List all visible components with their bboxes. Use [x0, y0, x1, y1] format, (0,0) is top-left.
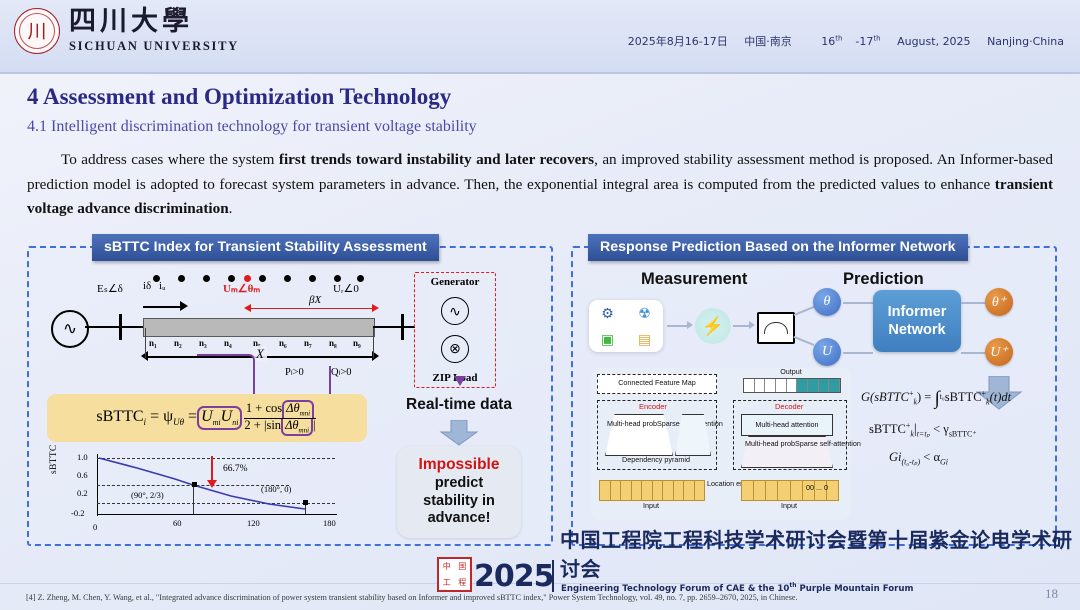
- impossible-callout: Impossible predict stability in advance!: [397, 446, 521, 538]
- node-label-n3: n₃: [199, 338, 207, 348]
- meter-dial: [764, 322, 788, 334]
- beta-x-arrow: [249, 308, 374, 309]
- seal-glyph: 川: [27, 22, 46, 41]
- source-generator-icon: ∿: [51, 310, 89, 348]
- slide: 川 四川大學 SICHUAN UNIVERSITY 2025年8月16-17日 …: [0, 0, 1080, 610]
- decoder-attention-block: Multi-head attention: [741, 414, 833, 436]
- connector-meter-theta: [794, 306, 815, 316]
- measurement-heading: Measurement: [641, 270, 747, 289]
- node-n7: [309, 275, 316, 282]
- source-voltage-label: Eₛ∠δ: [97, 282, 123, 295]
- decoder-input-label: Input: [741, 502, 837, 510]
- forum-seal-icon: 中国 工程: [437, 557, 472, 592]
- beta-x-arrow-head-left: [244, 304, 251, 312]
- informer-line-2: Network: [888, 321, 945, 339]
- impossible-line-4: advance!: [428, 510, 491, 528]
- current-arrow-head: [180, 301, 188, 311]
- body-part-3: .: [229, 200, 233, 217]
- u-predicted-circle: U⁺: [985, 338, 1013, 366]
- formula-u-product-box: UmiUni: [197, 406, 242, 429]
- connector-arrow-2: [749, 321, 755, 329]
- right-panel: Response Prediction Based on the Informe…: [571, 246, 1057, 546]
- impossible-line-3: stability in: [423, 493, 495, 511]
- chart-annotation-180: (180°, 0): [261, 484, 291, 494]
- header-date-cn: 2025年8月16-17日: [628, 35, 728, 48]
- receiving-voltage-label: Uᵣ∠0: [333, 282, 359, 295]
- node-n9: [357, 275, 364, 282]
- header-date-en: 16th-17th August, 2025: [808, 35, 970, 48]
- chart-y-axis-label: sBTTC: [49, 445, 59, 474]
- informer-architecture-diagram: Connected Feature Map Encoder Multi-head…: [591, 368, 851, 520]
- impossible-line-2: predict: [435, 475, 483, 493]
- realtime-data-label: Real-time data: [384, 396, 534, 414]
- sbttc-chart: sBTTC 66.7% (90°, 2/3) (180°, 0) 1: [51, 448, 361, 534]
- chart-ytick-4: -0.2: [71, 508, 84, 518]
- slide-footer: 中国 工程 2025 中国工程院工程科技学术研讨会暨第十届紫金论电学术研讨会 E…: [0, 552, 1080, 610]
- body-part-1: To address cases where the system: [61, 151, 279, 168]
- impossible-line-1: Impossible: [419, 456, 500, 475]
- node-n1: [153, 275, 160, 282]
- realtime-down-arrow-icon: [439, 420, 479, 446]
- wind-turbine-icon: ⚙: [601, 306, 614, 320]
- node-n6: [284, 275, 291, 282]
- dependency-pyramid-label: Dependency pyramid: [603, 456, 709, 464]
- transformer-icon: ⚡: [695, 308, 731, 344]
- connector-sources-transformer: [667, 325, 689, 327]
- slide-header: 川 四川大學 SICHUAN UNIVERSITY 2025年8月16-17日 …: [0, 0, 1080, 74]
- energy-source-icons: ⚙ ☢ ▣ ▤: [589, 300, 663, 352]
- node-n5: [259, 275, 266, 282]
- realtime-top-arrow: [454, 376, 466, 386]
- connector-meter-u: [794, 336, 815, 346]
- theta-measured-circle: θ: [813, 288, 841, 316]
- encoder-label: Encoder: [639, 402, 667, 411]
- beta-x-arrow-head-right: [372, 304, 379, 312]
- chart-xtick-180: 180: [323, 518, 336, 528]
- chart-ytick-3: 0.2: [77, 488, 88, 498]
- chart-xtick-60: 60: [173, 518, 182, 528]
- decoder-probsparse-label: Multi-head probSparse self-attention: [745, 440, 827, 448]
- generator-symbol-icon: ∿: [441, 297, 469, 325]
- current-u-label: iᵤ: [159, 280, 166, 292]
- right-panel-title: Response Prediction Based on the Informe…: [588, 234, 968, 261]
- chart-point-180: [303, 500, 308, 505]
- encoder-input-sequence: [599, 480, 705, 501]
- current-direction-arrow: [143, 306, 181, 308]
- x-dim-tick-left: [145, 328, 146, 358]
- node-n2: [178, 275, 185, 282]
- chart-drop-arrow-line: [211, 456, 213, 482]
- connector-theta-network: [843, 302, 873, 304]
- left-panel: sBTTC Index for Transient Stability Asse…: [27, 246, 553, 546]
- connector-arrow-1: [687, 321, 693, 329]
- chart-drop-arrow-head: [207, 480, 217, 488]
- u-measured-circle: U: [813, 338, 841, 366]
- connector-network-theta-out: [961, 302, 987, 304]
- x-dim-tick-right: [373, 328, 374, 358]
- load-wire: [373, 326, 403, 328]
- prediction-heading: Prediction: [843, 270, 924, 289]
- decoder-label: Decoder: [775, 402, 803, 411]
- current-delta-label: iδ: [143, 280, 151, 292]
- reference-citation: [4] Z. Zheng, M. Chen, Y. Wang, et al., …: [26, 593, 906, 602]
- connected-feature-map-label: Connected Feature Map: [601, 379, 713, 387]
- informer-network-block: Informer Network: [873, 290, 961, 352]
- page-subtitle: 4.1 Intelligent discrimination technolog…: [27, 118, 477, 136]
- node-label-n6: n₆: [279, 338, 287, 348]
- formula-connector-right: [329, 366, 331, 396]
- chart-xtick-120: 120: [247, 518, 260, 528]
- chart-ytick-2: 0.6: [77, 470, 88, 480]
- load-model-box: Generator ∿ ⊗ ZIP Load: [414, 272, 496, 388]
- transmission-line: [143, 318, 375, 337]
- assessment-equations: G(sBTTC+k) = ∫t₀sBTTC+k(t)dt sBTTC+k|t=t…: [861, 388, 1051, 477]
- equation-threshold: sBTTC+k|t=tₚ < γsBTTC⁺: [861, 421, 1051, 439]
- university-logo: 川 四川大學 SICHUAN UNIVERSITY: [14, 8, 239, 54]
- output-label: Output: [743, 368, 839, 376]
- header-place-cn: 中国·南京: [744, 35, 792, 48]
- informer-line-1: Informer: [888, 303, 947, 321]
- theta-predicted-circle: θ⁺: [985, 288, 1013, 316]
- beta-x-label: βX: [309, 294, 321, 306]
- header-place-en: Nanjing·China: [987, 35, 1064, 48]
- mid-voltage-label: Uₘ∠θₘ: [223, 282, 260, 295]
- node-n4-highlight: [244, 275, 251, 282]
- reactive-power-label: Qₗ>0: [331, 366, 352, 378]
- body-bold-1: first trends toward instability and late…: [279, 151, 594, 168]
- node-label-n7: n₇: [304, 338, 312, 348]
- university-name-cn: 四川大學: [69, 8, 239, 36]
- solar-panel-icon: ▤: [638, 332, 651, 346]
- node-n8: [334, 275, 341, 282]
- node-label-n1: n₁: [149, 338, 157, 348]
- chart-curve: [97, 454, 337, 516]
- source-wire-2: [121, 326, 143, 328]
- equation-integral: G(sBTTC+k) = ∫t₀sBTTC+k(t)dt: [861, 388, 1051, 410]
- equation-gi: Gi(t₀-tₚ) < αGi: [861, 450, 1051, 467]
- node-label-n4: n₄: [224, 338, 232, 348]
- sbttc-formula: sBTTCi = ψUθ = UmiUni 1 + cosΔθmni 2 + |…: [47, 394, 367, 442]
- footer-forum-cn: 中国工程院工程科技学术研讨会暨第十届紫金论电学术研讨会: [560, 524, 1080, 582]
- chart-xtick-0: 0: [93, 522, 97, 532]
- node-n3: [203, 275, 210, 282]
- formula-numerator: 1 + cosΔθmni: [244, 400, 316, 419]
- connector-u-network: [843, 352, 873, 354]
- measurement-meter-icon: [757, 312, 795, 344]
- left-panel-title: sBTTC Index for Transient Stability Asse…: [92, 234, 439, 261]
- university-seal-icon: 川: [14, 8, 60, 54]
- node-label-n9: n₉: [353, 338, 361, 348]
- source-wire: [85, 326, 121, 328]
- nuclear-icon: ☢: [638, 306, 651, 320]
- formula-connector-spacer: [253, 354, 333, 396]
- node-label-n8: n₈: [329, 338, 337, 348]
- zero-tokens-label: 00 ... 0: [799, 484, 835, 492]
- body-paragraph: To address cases where the system first …: [27, 148, 1053, 222]
- chart-ytick-1: 1.0: [77, 452, 88, 462]
- university-name-en: SICHUAN UNIVERSITY: [69, 39, 239, 54]
- footer-vertical-rule: [552, 560, 554, 592]
- node-n4: [228, 275, 235, 282]
- formula-lhs: sBTTCi = ψUθ =: [96, 408, 197, 427]
- page-title: 4 Assessment and Optimization Technology: [27, 84, 451, 110]
- generator-label: Generator: [431, 276, 480, 288]
- node-label-n2: n₂: [174, 338, 182, 348]
- chart-annotation-90: (90°, 2/3): [131, 490, 164, 500]
- formula-fraction: 1 + cosΔθmni 2 + |sinΔθmni|: [242, 400, 317, 437]
- encoder-input-label: Input: [599, 502, 703, 510]
- page-number: 18: [1045, 586, 1058, 602]
- zip-load-symbol-icon: ⊗: [441, 335, 469, 363]
- connector-network-u-out: [961, 352, 987, 354]
- header-event-info: 2025年8月16-17日 中国·南京 16th-17th August, 20…: [615, 33, 1064, 49]
- formula-connector-left: [197, 354, 255, 398]
- chart-point-90: [192, 482, 197, 487]
- formula-denominator: 2 + |sinΔθmni|: [242, 419, 317, 437]
- footer-year: 2025: [474, 559, 554, 594]
- battery-icon: ▣: [601, 332, 614, 346]
- output-sequence-bar: [743, 378, 841, 393]
- chart-drop-annotation: 66.7%: [223, 464, 248, 474]
- encoder-attention-label: Multi-head probSparse self-attention: [607, 420, 669, 428]
